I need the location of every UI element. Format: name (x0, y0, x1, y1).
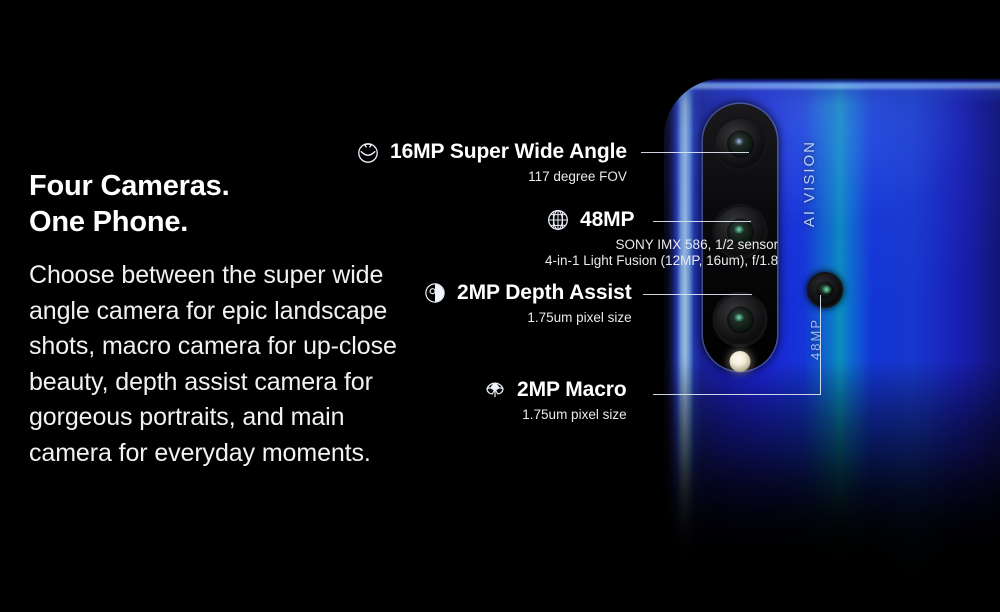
page-title: Four Cameras. One Phone. (29, 168, 229, 241)
callout-depth-assist: 2MP Depth Assist 1.75um pixel size (422, 280, 632, 325)
body-paragraph: Choose between the super wide angle came… (29, 258, 414, 471)
depth-lens (713, 292, 768, 347)
product-marketing-banner: AI VISION 48MP Four Cameras. One Phone. … (0, 0, 1000, 612)
headline-line-2: One Phone. (29, 204, 229, 240)
callout-subtitle-line-2: 4-in-1 Light Fusion (12MP, 16um), f/1.8 (545, 253, 778, 268)
callout-main-camera: 48MP SONY IMX 586, 1/2 sensor 4-in-1 Lig… (545, 207, 776, 268)
headline-line-1: Four Cameras. (29, 168, 229, 204)
depth-bokeh-icon (422, 280, 448, 306)
leader-line-macro-vertical (820, 295, 821, 395)
leader-line-depth (643, 294, 752, 295)
leader-line-wide-angle (641, 152, 749, 153)
callout-title: 2MP Depth Assist (457, 281, 632, 305)
callout-subtitle: 117 degree FOV (355, 169, 627, 184)
callout-title: 48MP (580, 208, 634, 232)
callout-macro: 2MP Macro 1.75um pixel size (482, 377, 627, 422)
globe-icon (545, 207, 571, 233)
callout-subtitle-line-1: SONY IMX 586, 1/2 sensor (545, 237, 778, 252)
callout-subtitle: 1.75um pixel size (482, 407, 627, 422)
callout-subtitle: 1.75um pixel size (422, 310, 632, 325)
led-flash (730, 351, 751, 372)
lens-glass (727, 306, 754, 333)
wide-angle-icon (355, 139, 381, 165)
phone-engraving-ai-vision: AI VISION (801, 140, 818, 227)
lens-glint (734, 137, 744, 145)
macro-lens (807, 272, 843, 308)
wide-angle-lens (713, 116, 768, 171)
leader-line-macro-horizontal (653, 394, 820, 395)
lens-glint (734, 313, 744, 321)
callout-title: 2MP Macro (517, 378, 627, 402)
phone-image: AI VISION 48MP (664, 78, 1000, 612)
macro-flower-icon (482, 377, 508, 403)
lens-glint (821, 286, 831, 294)
callout-title: 16MP Super Wide Angle (390, 140, 627, 164)
callout-wide-angle: 16MP Super Wide Angle 117 degree FOV (355, 139, 627, 184)
